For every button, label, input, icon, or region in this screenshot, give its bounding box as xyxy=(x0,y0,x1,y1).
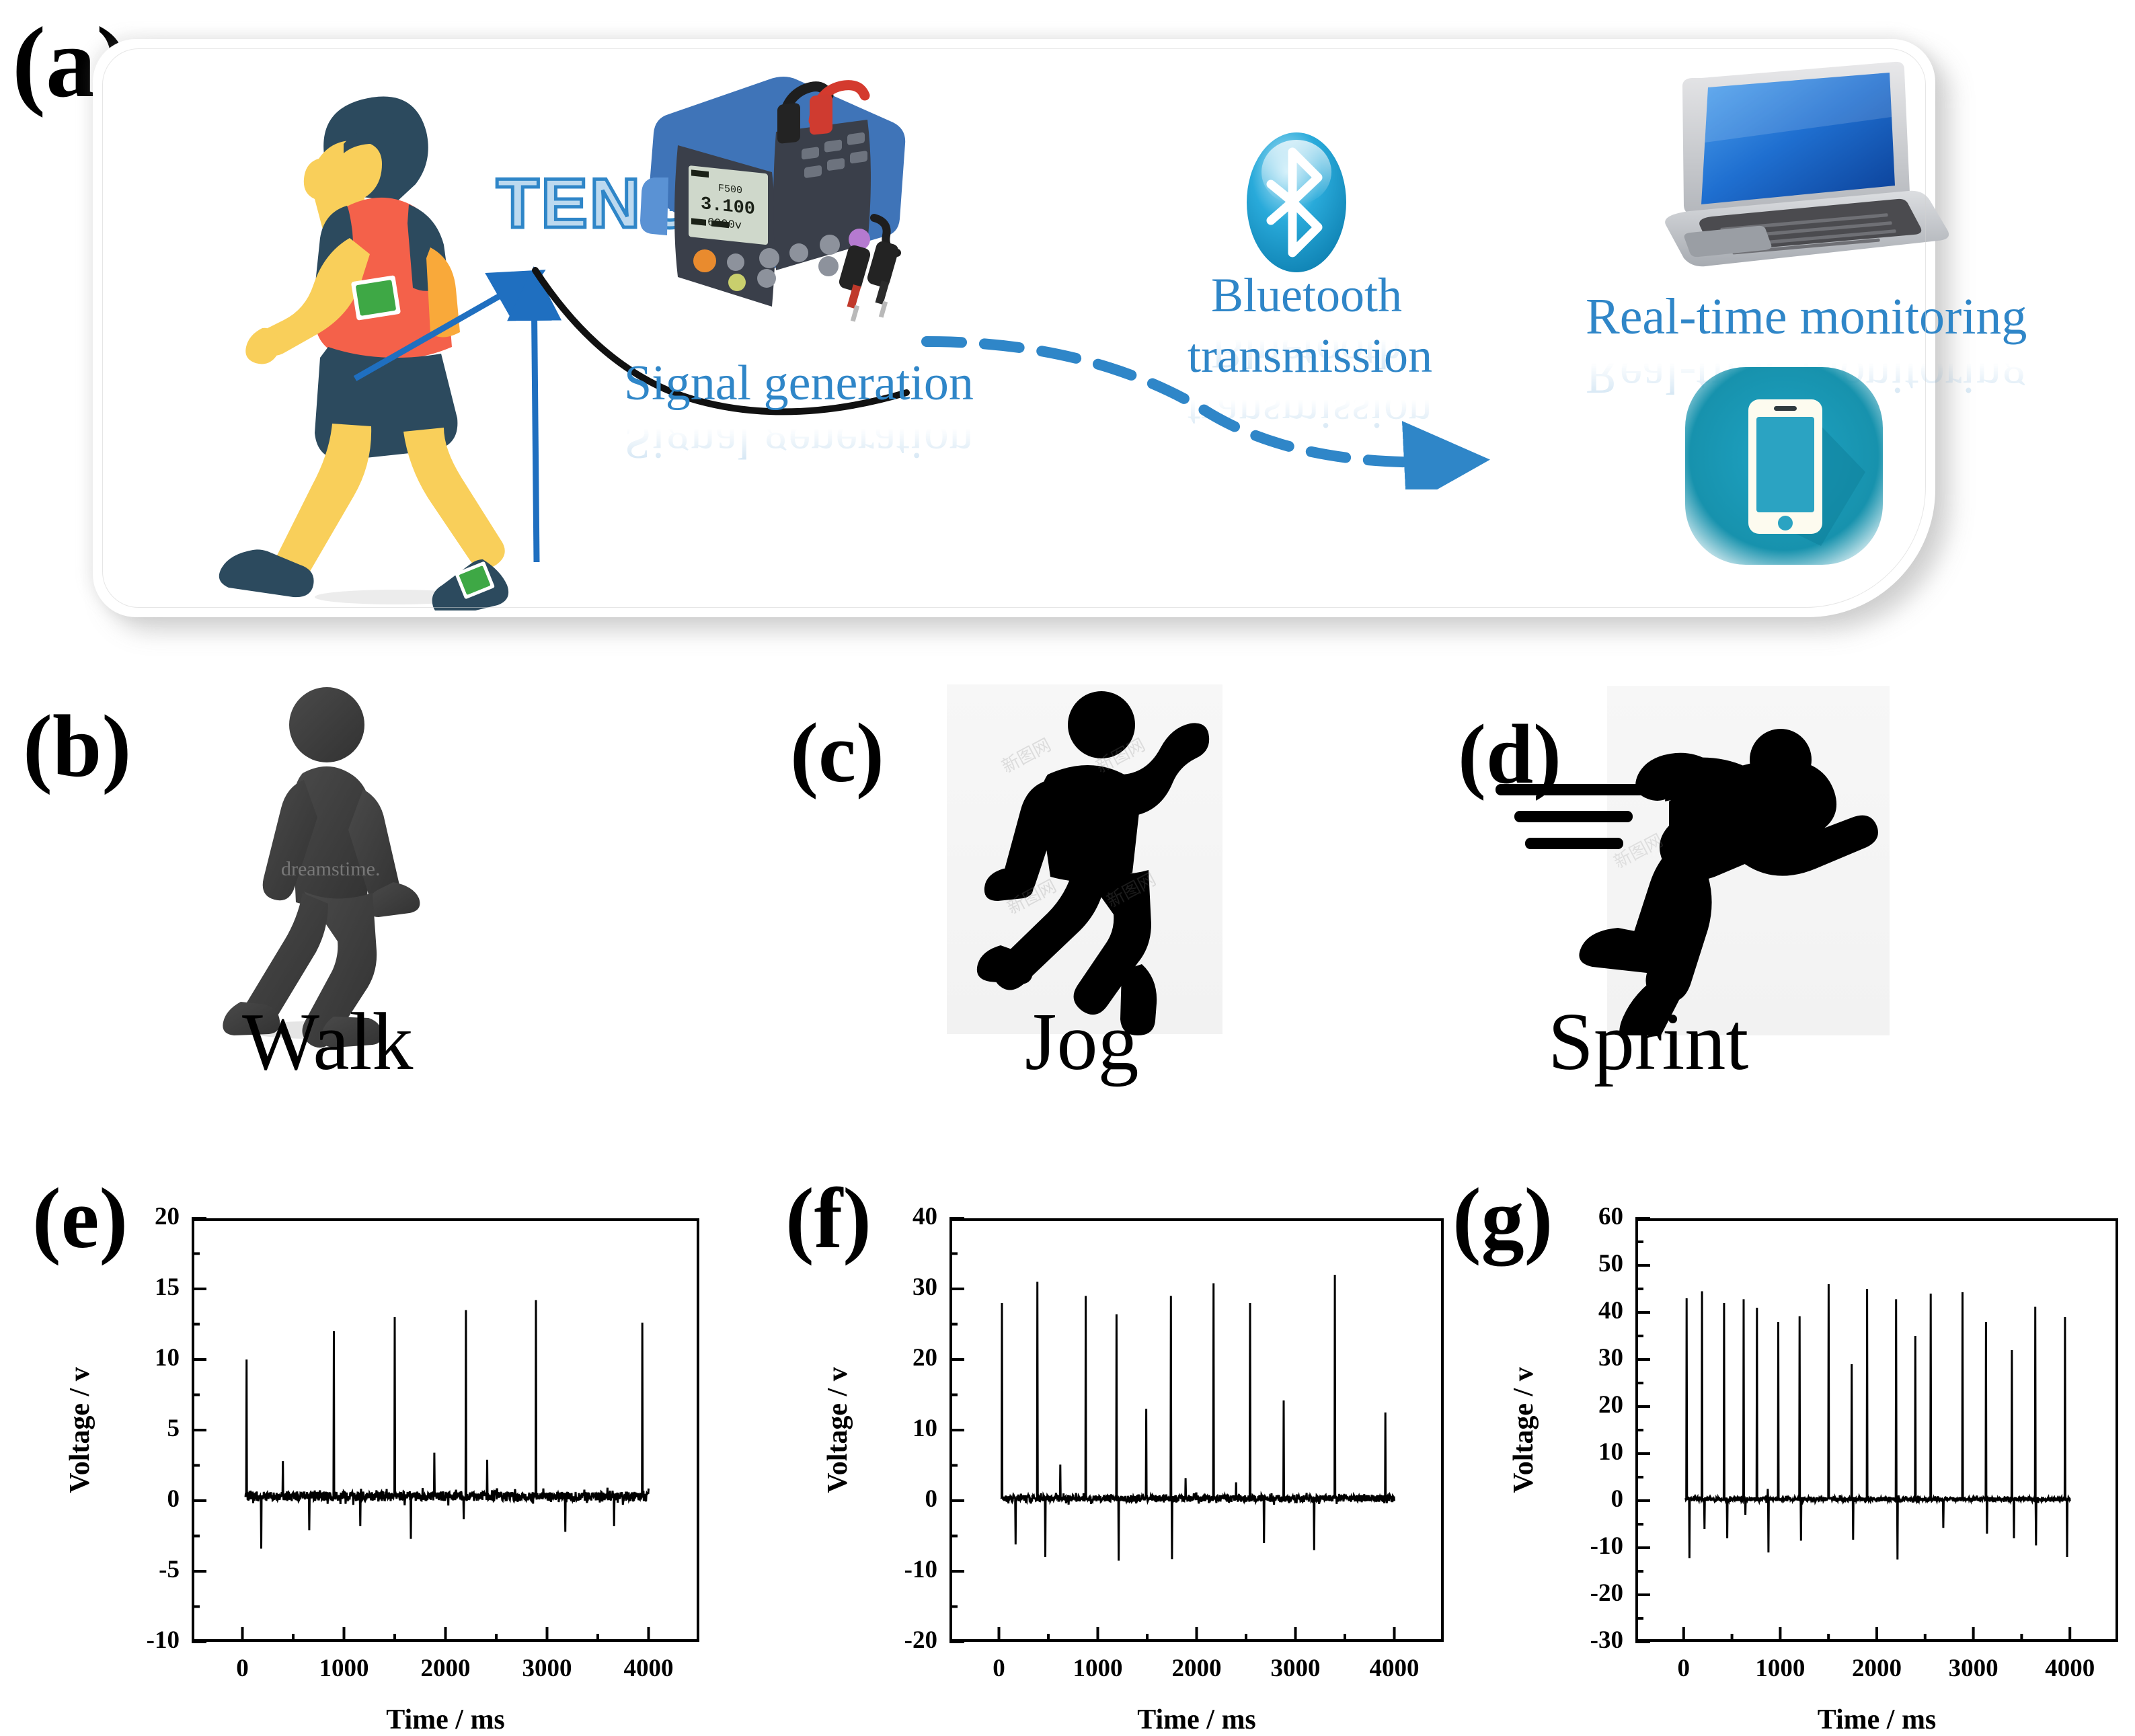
bluetooth-reflection-1: Bluetooth xyxy=(1206,323,1407,379)
y-tick-label: 40 xyxy=(1548,1296,1623,1325)
bluetooth-label: Bluetooth Bluetooth xyxy=(1206,268,1407,379)
y-tick-label: -30 xyxy=(1548,1626,1623,1655)
y-axis-title: Voltage / v xyxy=(1508,1343,1540,1517)
y-tick-label: 0 xyxy=(1548,1485,1623,1513)
y-tick-label: 40 xyxy=(862,1202,937,1231)
sprint-pictogram: 新图网 xyxy=(1486,686,1903,1035)
y-tick-label: 50 xyxy=(1548,1249,1623,1278)
y-tick-label: -20 xyxy=(1548,1579,1623,1608)
signal-generation-reflection: Signal generation xyxy=(624,412,974,469)
speed-lines xyxy=(1496,784,1645,849)
laptop-icon xyxy=(1626,52,1949,274)
insulation-tester-device: F500 3.100 6000v xyxy=(637,59,920,355)
chart-sprint-voltage: -30-20-10010203040506001000200030004000T… xyxy=(1466,1204,2135,1714)
x-tick-label: 3000 xyxy=(500,1654,594,1683)
x-tick-label: 3000 xyxy=(1249,1654,1343,1683)
panel-tag-c: (c) xyxy=(790,711,884,796)
chart-walk-voltage: -10-50510152001000200030004000Time / msV… xyxy=(40,1204,733,1714)
bluetooth-text-1: Bluetooth xyxy=(1211,268,1402,322)
teng-label: TENG xyxy=(496,164,699,244)
smartphone-icon xyxy=(1673,355,1895,577)
panel-a-card: TENG F500 3.100 6000v xyxy=(93,39,1935,617)
monitoring-text: Real-time monitoring xyxy=(1586,288,2027,345)
y-tick-label: 10 xyxy=(862,1414,937,1443)
y-tick-label: 10 xyxy=(1548,1437,1623,1466)
x-tick-label: 2000 xyxy=(399,1654,493,1683)
chart-jog-voltage: -20-1001020304001000200030004000Time / m… xyxy=(793,1204,1473,1714)
jog-pictogram: 新图网 新图网 新图网 新图网 xyxy=(941,686,1224,1035)
y-tick-label: 30 xyxy=(1548,1343,1623,1372)
x-tick-label: 4000 xyxy=(1348,1654,1442,1683)
panel-tag-b: (b) xyxy=(23,702,131,791)
y-tick-label: 20 xyxy=(1548,1390,1623,1419)
x-tick-label: 4000 xyxy=(602,1654,696,1683)
walk-label: Walk xyxy=(242,995,413,1089)
svg-text:6000v: 6000v xyxy=(707,216,742,233)
svg-text:新图网: 新图网 xyxy=(999,735,1054,777)
bluetooth-reflection-2: transmission xyxy=(1182,384,1438,440)
svg-text:3.100: 3.100 xyxy=(701,194,755,220)
signal-cable xyxy=(530,261,947,463)
y-axis-title: Voltage / v xyxy=(64,1343,96,1517)
x-tick-label: 3000 xyxy=(1927,1654,2021,1683)
walk-watermark: dreamstime. xyxy=(281,858,380,880)
x-axis-title: Time / ms xyxy=(1635,1704,2118,1736)
y-tick-label: -10 xyxy=(862,1555,937,1584)
x-tick-label: 4000 xyxy=(2023,1654,2117,1683)
y-tick-label: 0 xyxy=(862,1485,937,1513)
y-tick-label: -5 xyxy=(104,1555,180,1584)
walk-pictogram: dreamstime. xyxy=(202,686,430,1049)
y-tick-label: 10 xyxy=(104,1343,180,1372)
x-axis-title: Time / ms xyxy=(192,1704,699,1736)
arrow-chest-to-teng xyxy=(348,261,550,389)
runner-illustration xyxy=(187,79,537,610)
bluetooth-transmission-arrow xyxy=(920,301,1606,489)
plot-frame xyxy=(1635,1218,2118,1642)
monitoring-reflection: Real-time monitoring xyxy=(1586,346,2027,405)
y-tick-label: 20 xyxy=(104,1202,180,1231)
jog-label: Jog xyxy=(1025,995,1138,1089)
x-axis-title: Time / ms xyxy=(949,1704,1444,1736)
plot-frame xyxy=(192,1218,699,1642)
x-tick-label: 0 xyxy=(196,1654,290,1683)
x-tick-label: 2000 xyxy=(1830,1654,1924,1683)
x-tick-label: 1000 xyxy=(1051,1654,1145,1683)
plot-frame xyxy=(949,1218,1444,1642)
y-tick-label: -10 xyxy=(104,1626,180,1655)
sprint-label: Sprint xyxy=(1548,995,1748,1089)
signal-generation-text: Signal generation xyxy=(624,356,974,411)
svg-text:F500: F500 xyxy=(718,182,742,197)
x-tick-label: 1000 xyxy=(1733,1654,1827,1683)
x-tick-label: 2000 xyxy=(1150,1654,1244,1683)
y-tick-label: -20 xyxy=(862,1626,937,1655)
y-tick-label: 5 xyxy=(104,1414,180,1443)
arrow-shoe-to-teng xyxy=(496,261,577,570)
y-tick-label: 0 xyxy=(104,1485,180,1513)
y-axis-title: Voltage / v xyxy=(822,1343,854,1517)
y-tick-label: 15 xyxy=(104,1273,180,1302)
bluetooth-text-2: transmission xyxy=(1188,329,1432,383)
bluetooth-label-2: transmission transmission xyxy=(1182,328,1438,440)
bluetooth-icon xyxy=(1236,125,1357,280)
x-tick-label: 0 xyxy=(1637,1654,1731,1683)
y-tick-label: 60 xyxy=(1548,1202,1623,1231)
y-tick-label: -10 xyxy=(1548,1532,1623,1561)
x-tick-label: 1000 xyxy=(297,1654,391,1683)
y-tick-label: 20 xyxy=(862,1343,937,1372)
signal-generation-label: Signal generation Signal generation xyxy=(624,355,974,469)
y-tick-label: 30 xyxy=(862,1273,937,1302)
monitoring-label: Real-time monitoring Real-time monitorin… xyxy=(1586,288,2027,405)
x-tick-label: 0 xyxy=(952,1654,1046,1683)
